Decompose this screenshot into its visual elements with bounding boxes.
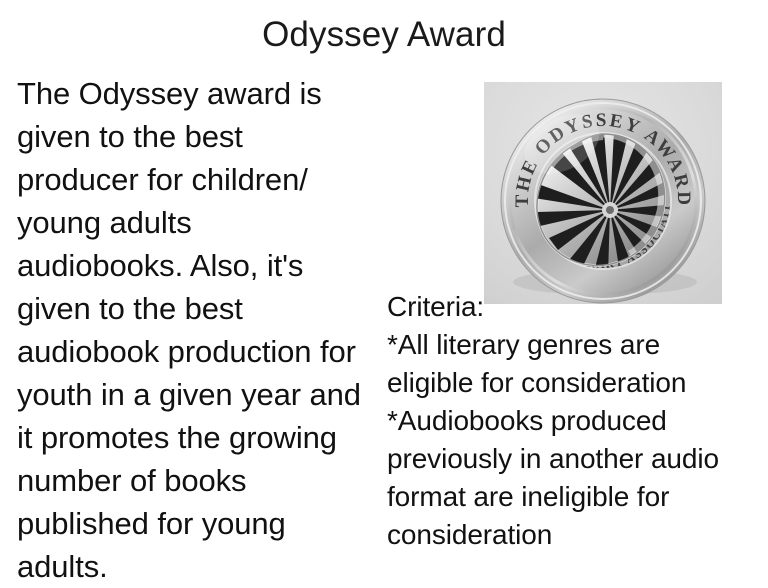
description-line: given to the best: [17, 115, 377, 158]
description-line: adults.: [17, 545, 377, 588]
criteria-line: *Audiobooks produced: [387, 402, 762, 440]
description-line: audiobooks. Also, it's: [17, 244, 377, 287]
criteria-heading: Criteria:: [387, 288, 762, 326]
description-line: audiobook production for: [17, 330, 377, 373]
slide-canvas: Odyssey Award The Odyssey award is given…: [0, 0, 768, 561]
criteria-text: Criteria: *All literary genres are eligi…: [387, 288, 762, 554]
description-line: number of books: [17, 459, 377, 502]
description-line: producer for children/: [17, 158, 377, 201]
award-description-text: The Odyssey award is given to the best p…: [17, 72, 377, 588]
odyssey-award-medal-image: THE ODYSSEY AWARD AMERICAN LIBRARY ASSOC…: [484, 82, 722, 304]
description-line: The Odyssey award is: [17, 72, 377, 115]
criteria-line: format are ineligible for: [387, 478, 762, 516]
criteria-line: consideration: [387, 516, 762, 554]
description-line: young adults: [17, 201, 377, 244]
description-line: published for young: [17, 502, 377, 545]
description-line: it promotes the growing: [17, 416, 377, 459]
page-title: Odyssey Award: [0, 14, 768, 56]
description-line: given to the best: [17, 287, 377, 330]
criteria-line: *All literary genres are: [387, 326, 762, 364]
description-line: youth in a given year and: [17, 373, 377, 416]
criteria-line: previously in another audio: [387, 440, 762, 478]
criteria-line: eligible for consideration: [387, 364, 762, 402]
